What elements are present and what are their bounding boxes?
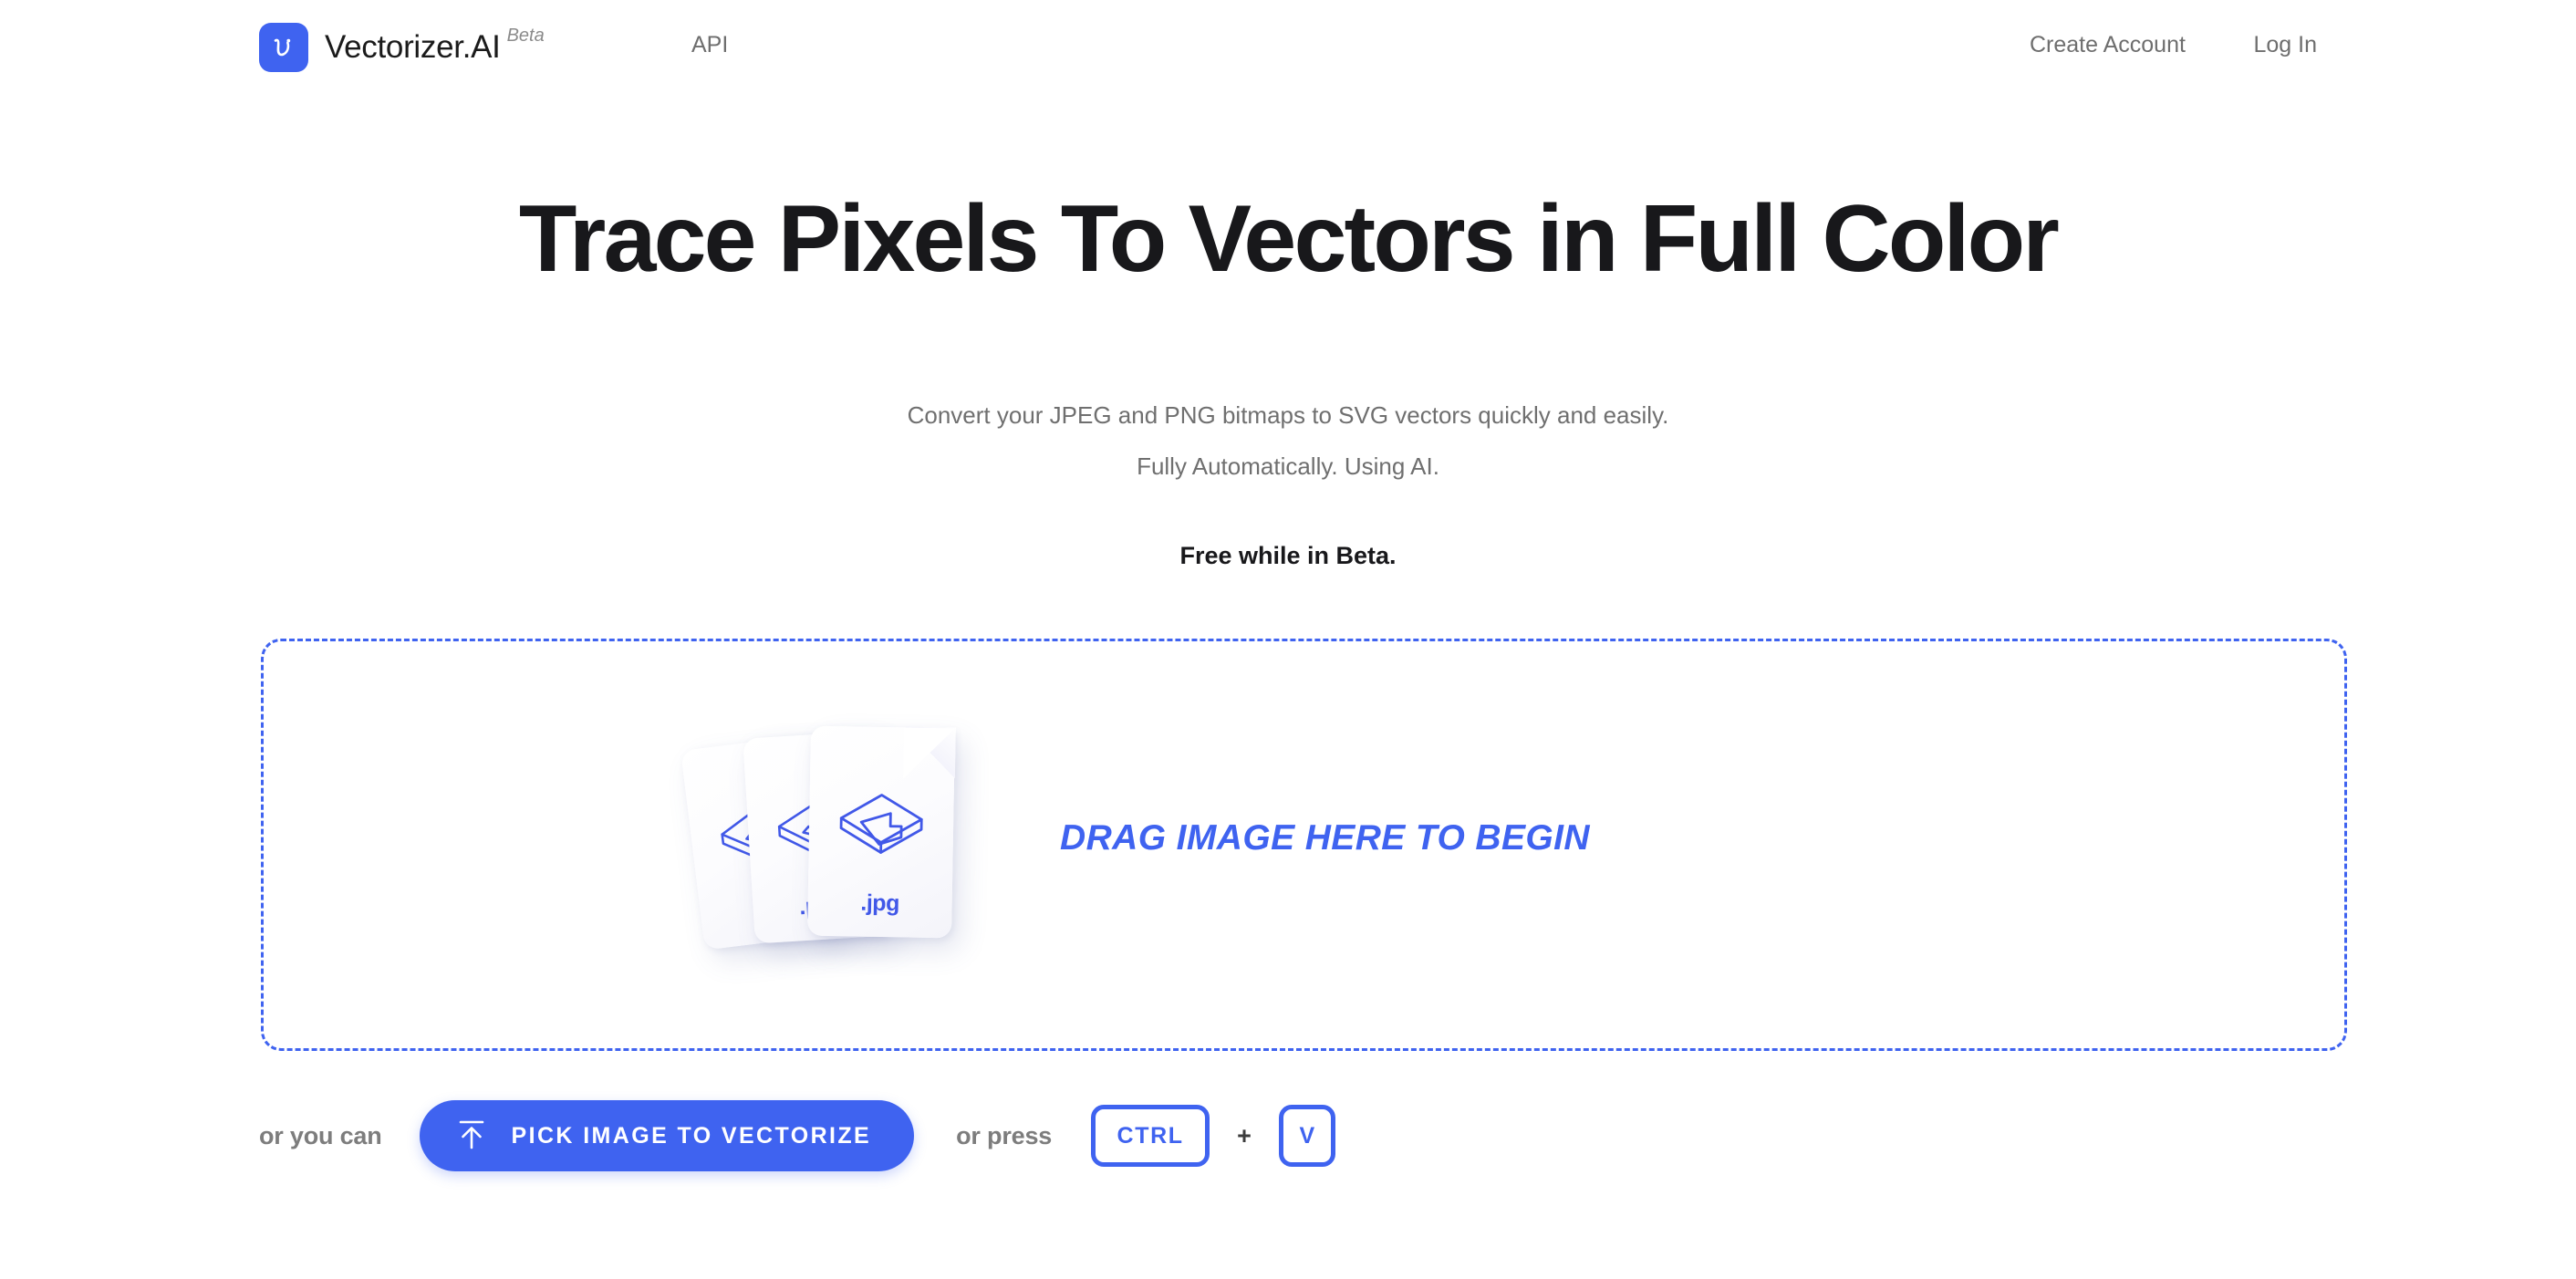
- upload-arrow-icon: [456, 1118, 487, 1154]
- file-formats-illustration: .gif .png: [692, 714, 1021, 979]
- brand-name: Vectorizer.AI: [325, 20, 501, 75]
- file-card-label: .jpg: [807, 889, 951, 919]
- or-you-can-label: or you can: [259, 1122, 382, 1150]
- hero-subline-primary: Convert your JPEG and PNG bitmaps to SVG…: [0, 400, 2576, 431]
- brand-logo-link[interactable]: Vectorizer.AI Beta: [259, 20, 545, 75]
- shortcut-key-v[interactable]: V: [1279, 1105, 1335, 1167]
- dropzone-prompt: DRAG IMAGE HERE TO BEGIN: [1060, 816, 1590, 860]
- nav-item-log-in[interactable]: Log In: [2253, 29, 2317, 60]
- nav-item-create-account[interactable]: Create Account: [2030, 29, 2186, 60]
- shortcut-key-ctrl[interactable]: CTRL: [1091, 1105, 1210, 1167]
- site-header: Vectorizer.AI Beta API Create Account Lo…: [0, 0, 2576, 91]
- vectorizer-logo-icon: [259, 23, 308, 72]
- or-press-label: or press: [956, 1122, 1052, 1150]
- free-beta-notice: Free while in Beta.: [0, 540, 2576, 571]
- beta-tag: Beta: [507, 20, 545, 51]
- folded-corner-icon: [904, 726, 956, 778]
- action-row: or you can PICK IMAGE TO VECTORIZE or pr…: [259, 1095, 1335, 1177]
- hero-subline-secondary: Fully Automatically. Using AI.: [0, 451, 2576, 482]
- pick-image-button[interactable]: PICK IMAGE TO VECTORIZE: [420, 1100, 915, 1171]
- shortcut-separator: +: [1237, 1122, 1252, 1150]
- page-title: Trace Pixels To Vectors in Full Color: [0, 187, 2576, 291]
- pick-image-button-label: PICK IMAGE TO VECTORIZE: [512, 1123, 872, 1149]
- nav-item-api[interactable]: API: [691, 29, 728, 60]
- file-card-jpg: .jpg: [807, 726, 955, 939]
- image-file-isometric-icon: [836, 789, 925, 867]
